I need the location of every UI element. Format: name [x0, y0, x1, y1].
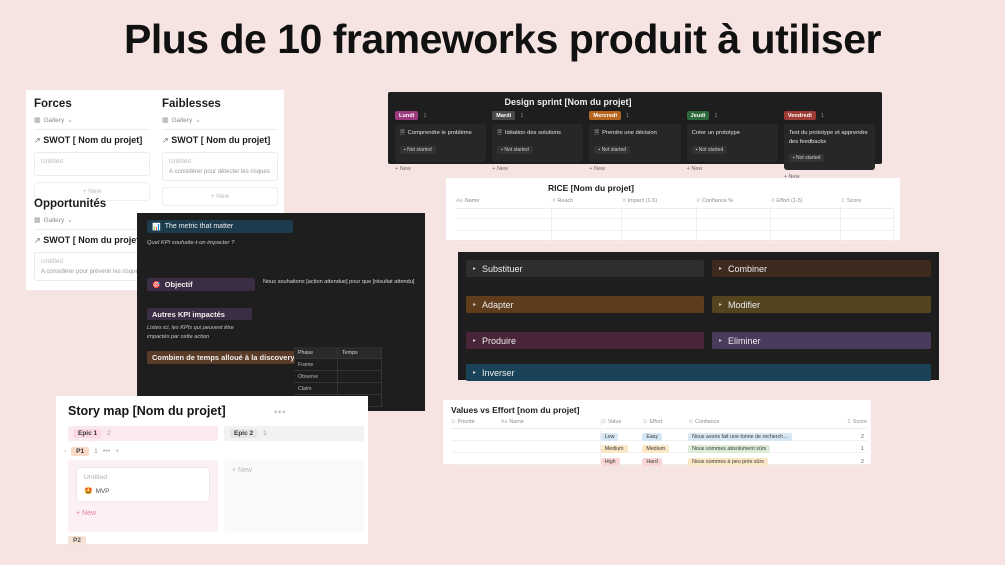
- target-icon: 🎯: [152, 281, 161, 289]
- story-card-tag: 🤩MVP: [84, 487, 202, 495]
- chevron-down-icon: ⌄: [67, 116, 72, 124]
- objective-label: Objectif: [165, 280, 193, 289]
- swot-database-link[interactable]: ↗ SWOT [ Nom du projet]: [34, 135, 150, 145]
- cell-effort[interactable]: Hard: [642, 450, 688, 468]
- sprint-day-tag: Vendredi: [784, 111, 816, 120]
- grid-icon: ▦: [162, 116, 169, 124]
- swot-item-title: Untitled: [41, 158, 143, 165]
- scamper-toggle-produire[interactable]: ▸Produire: [466, 332, 704, 349]
- table-cell[interactable]: [456, 231, 552, 242]
- table-cell[interactable]: [622, 207, 696, 218]
- metric-header-label: The metric that matter: [165, 223, 233, 230]
- divider: [34, 229, 150, 230]
- design-sprint-panel: Design sprint [Nom du projet] Lundi1🗎Com…: [388, 92, 882, 164]
- scamper-toggle-eliminer[interactable]: ▸Eliminer: [712, 332, 931, 349]
- table-cell[interactable]: Claim: [294, 383, 338, 394]
- gallery-label: Gallery: [44, 217, 65, 224]
- chart-icon: 📊: [152, 223, 161, 231]
- status-badge: ▪ Not started: [400, 146, 436, 154]
- sprint-task-label: 🗎Comprendre le problème: [400, 129, 481, 138]
- sprint-task-label: Créer un prototype: [692, 129, 773, 138]
- rice-column-header[interactable]: #Reach: [552, 198, 622, 204]
- sprint-day-count: 1: [821, 113, 824, 119]
- gallery-label: Gallery: [44, 117, 65, 124]
- epic-count: 2: [107, 430, 111, 437]
- rice-column-header[interactable]: #Effort (1-5): [771, 198, 841, 204]
- table-cell[interactable]: Observe: [294, 371, 338, 382]
- star-struck-icon: 🤩: [84, 488, 93, 495]
- page-icon: 🗎: [594, 130, 599, 136]
- column-type-icon: #: [622, 198, 625, 204]
- values-vs-effort-title: Values vs Effort [nom du projet]: [451, 405, 579, 415]
- epic-2-body: + New: [224, 460, 364, 532]
- table-cell[interactable]: [338, 371, 382, 382]
- rice-column-header[interactable]: AaName: [456, 198, 552, 204]
- table-cell[interactable]: [622, 219, 696, 230]
- status-badge: ▪ Not started: [594, 146, 630, 154]
- table-cell[interactable]: [697, 207, 771, 218]
- metric-question: Quel KPI souhaite-t-on impacter ?: [147, 240, 234, 246]
- vve-column-header[interactable]: AaName: [501, 419, 602, 425]
- table-row[interactable]: Frame: [294, 359, 382, 371]
- status-badge: ▪ Not started: [692, 146, 728, 154]
- column-type-icon: ⊙: [451, 419, 456, 425]
- swot-section-forces: Forces ▦ Gallery ⌄ ↗ SWOT [ Nom du proje…: [34, 90, 150, 201]
- rice-column-header[interactable]: #Impact (1-5): [622, 198, 696, 204]
- grid-icon: ▦: [34, 216, 41, 224]
- sprint-day-tag: Lundi: [395, 111, 418, 120]
- sprint-day-count: 1: [520, 113, 523, 119]
- sprint-day-row: Mardi1: [492, 111, 583, 120]
- sprint-column-vendredi: Vendredi1Test du prototype et apprendre …: [784, 111, 875, 180]
- swot-link-label: SWOT [ Nom du projet]: [43, 235, 142, 245]
- swot-card-item[interactable]: Untitled A considérer pour détecter les …: [162, 152, 278, 181]
- status-badge: ▪ Not started: [497, 146, 533, 154]
- table-header-row: PhaseTemps: [294, 347, 382, 359]
- metric-panel: 📊 The metric that matter Quel KPI souhai…: [137, 213, 425, 411]
- sprint-task-label: 🗎Prendre une décision: [594, 129, 675, 138]
- sprint-new-button[interactable]: + New: [395, 166, 486, 172]
- epic-band[interactable]: Epic 1 2: [68, 426, 218, 441]
- table-row[interactable]: [456, 219, 894, 231]
- cell-score[interactable]: 2: [825, 450, 867, 468]
- status-badge: ▪ Not started: [789, 154, 825, 162]
- table-cell[interactable]: [338, 383, 382, 394]
- sprint-column-jeudi: Jeudi1Créer un prototype▪ Not started+ N…: [687, 111, 778, 180]
- sprint-day-tag: Mercredi: [589, 111, 621, 120]
- chevron-right-icon: ▸: [719, 265, 722, 272]
- swot-heading: Faiblesses: [162, 98, 278, 110]
- collapse-icon[interactable]: ▪: [64, 449, 66, 455]
- priority-count: 1: [94, 448, 98, 455]
- table-cell[interactable]: [338, 359, 382, 370]
- column-type-icon: Aa: [501, 419, 508, 425]
- epic-count: 1: [263, 430, 267, 437]
- scamper-label: Combiner: [728, 264, 767, 274]
- table-cell[interactable]: [841, 219, 894, 230]
- rice-title: RICE [Nom du projet]: [446, 183, 736, 193]
- table-cell[interactable]: [697, 231, 771, 242]
- values-vs-effort-panel: Values vs Effort [nom du projet] ⊙Priori…: [443, 400, 871, 464]
- table-cell[interactable]: [771, 231, 841, 242]
- epic-tag: Epic 2: [230, 429, 257, 438]
- slide-canvas: Plus de 10 frameworks produit à utiliser…: [0, 0, 1005, 565]
- table-cell[interactable]: [841, 231, 894, 242]
- sprint-day-row: Vendredi1: [784, 111, 875, 120]
- scamper-panel: ▸Substituer▸Combiner▸Adapter▸Modifier▸Pr…: [458, 252, 939, 380]
- priority-row: ▪ P1 1 ••• +: [64, 447, 119, 456]
- chevron-down-icon: ⌄: [67, 216, 72, 224]
- chevron-right-icon: ▸: [473, 337, 476, 344]
- sprint-day-count: 1: [626, 113, 629, 119]
- sprint-task-card[interactable]: Créer un prototype▪ Not started: [687, 124, 778, 162]
- sprint-day-tag: Mardi: [492, 111, 515, 120]
- rice-panel: RICE [Nom du projet] AaName#Reach#Impact…: [446, 178, 900, 240]
- epic-tag: Epic 1: [74, 429, 101, 438]
- add-icon[interactable]: +: [115, 448, 119, 455]
- scamper-toggle-substituer[interactable]: ▸Substituer: [466, 260, 704, 277]
- sprint-column-lundi: Lundi1🗎Comprendre le problème▪ Not start…: [395, 111, 486, 180]
- swot-database-link[interactable]: ↗ SWOT [ Nom du projet]: [162, 135, 278, 145]
- swot-card-item[interactable]: Untitled: [34, 152, 150, 176]
- priority-row-partial[interactable]: P2: [68, 536, 92, 545]
- arrow-up-right-icon: ↗: [34, 136, 41, 145]
- column-type-icon: #: [771, 198, 774, 204]
- gallery-view-selector[interactable]: ▦ Gallery ⌄: [162, 116, 278, 124]
- sprint-day-row: Lundi1: [395, 111, 486, 120]
- cell-name[interactable]: [501, 428, 601, 440]
- scamper-label: Inverser: [482, 368, 515, 378]
- story-map-panel: Story map [Nom du projet] ••• Epic 1 2 E…: [56, 396, 368, 544]
- epic-1-body: Untitled 🤩MVP + New: [68, 460, 218, 532]
- swot-section-faiblesses: Faiblesses ▦ Gallery ⌄ ↗ SWOT [ Nom du p…: [162, 90, 278, 206]
- scamper-toggle-inverser[interactable]: ▸Inverser: [466, 364, 931, 381]
- sprint-task-card[interactable]: 🗎Comprendre le problème▪ Not started: [395, 124, 486, 162]
- column-type-icon: #: [697, 198, 700, 204]
- priority-tag: P2: [68, 536, 86, 545]
- table-row[interactable]: [456, 231, 894, 243]
- table-cell[interactable]: [697, 219, 771, 230]
- table-cell[interactable]: [771, 219, 841, 230]
- other-kpi-hint: Listes ici, les KPIs qui peuvent être im…: [147, 324, 257, 342]
- other-kpi-block[interactable]: Autres KPI impactés: [147, 308, 252, 320]
- sprint-task-label: Test du prototype et apprendre des feedb…: [789, 129, 870, 146]
- swot-link-label: SWOT [ Nom du projet]: [43, 135, 142, 145]
- metric-header-toggle[interactable]: 📊 The metric that matter: [147, 220, 293, 233]
- page-icon: 🗎: [497, 130, 502, 136]
- cell-confiance[interactable]: Nous sommes à peu près sûrs: [688, 450, 825, 468]
- table-cell[interactable]: [841, 207, 894, 218]
- story-card-tag-label: MVP: [96, 488, 110, 495]
- table-cell[interactable]: [456, 219, 552, 230]
- story-map-title: Story map [Nom du projet]: [68, 404, 226, 418]
- gallery-view-selector[interactable]: ▦ Gallery ⌄: [34, 116, 150, 124]
- scamper-label: Adapter: [482, 300, 514, 310]
- swot-item-subtitle: A considérer pour prévenir les risques: [41, 269, 145, 275]
- table-cell[interactable]: [771, 207, 841, 218]
- chevron-down-icon: ⌄: [195, 116, 200, 124]
- objective-block[interactable]: 🎯 Objectif: [147, 278, 255, 291]
- story-card[interactable]: Untitled 🤩MVP: [76, 467, 210, 502]
- table-cell[interactable]: Frame: [294, 359, 338, 370]
- chevron-right-icon: ▸: [473, 301, 476, 308]
- sprint-column-mercredi: Mercredi1🗎Prendre une décision▪ Not star…: [589, 111, 680, 180]
- scamper-label: Substituer: [482, 264, 523, 274]
- swot-link-label: SWOT [ Nom du projet]: [171, 135, 270, 145]
- swot-card-item[interactable]: Untitled A considérer pour prévenir les …: [34, 252, 152, 281]
- swot-heading: Forces: [34, 98, 150, 110]
- chevron-right-icon: ▸: [719, 301, 722, 308]
- column-type-icon: #: [552, 198, 555, 204]
- sprint-task-card[interactable]: 🗎Prendre une décision▪ Not started: [589, 124, 680, 162]
- more-options-icon[interactable]: •••: [274, 407, 286, 417]
- rice-column-header[interactable]: ΣScore: [841, 198, 894, 204]
- epic-1-column-header: Epic 1 2: [68, 426, 218, 441]
- scamper-label: Eliminer: [728, 336, 761, 346]
- priority-tag: P1: [71, 447, 89, 456]
- gallery-label: Gallery: [172, 117, 193, 124]
- rice-table-body: [456, 207, 894, 243]
- table-cell[interactable]: [552, 231, 622, 242]
- sprint-day-count: 1: [423, 113, 426, 119]
- swot-item-title: Untitled: [169, 158, 271, 165]
- chevron-right-icon: ▸: [473, 265, 476, 272]
- sprint-task-label: 🗎Idéation des solutions: [497, 129, 578, 138]
- epic-band[interactable]: Epic 2 1: [224, 426, 364, 441]
- discovery-time-block[interactable]: Combien de temps alloué à la discovery: [147, 351, 295, 364]
- sprint-task-card[interactable]: 🗎Idéation des solutions▪ Not started: [492, 124, 583, 162]
- sprint-new-button[interactable]: + New: [687, 166, 778, 172]
- scamper-label: Modifier: [728, 300, 760, 310]
- story-card-title: Untitled: [84, 474, 202, 481]
- cell-name[interactable]: [501, 441, 601, 453]
- discovery-label: Combien de temps alloué à la discovery: [152, 353, 295, 362]
- chevron-right-icon: ▸: [719, 337, 722, 344]
- sprint-day-count: 1: [714, 113, 717, 119]
- sprint-day-row: Jeudi1: [687, 111, 778, 120]
- scamper-toggle-modifier[interactable]: ▸Modifier: [712, 296, 931, 313]
- scamper-toggle-adapter[interactable]: ▸Adapter: [466, 296, 704, 313]
- other-kpi-label: Autres KPI impactés: [152, 310, 225, 319]
- cell-name[interactable]: [501, 453, 601, 465]
- table-cell[interactable]: [622, 231, 696, 242]
- sprint-new-button[interactable]: + New: [492, 166, 583, 172]
- story-new-button[interactable]: + New: [232, 467, 356, 474]
- rice-column-header[interactable]: #Confiance %: [697, 198, 771, 204]
- table-row[interactable]: [456, 207, 894, 219]
- epic-2-column-header: Epic 2 1: [224, 426, 364, 441]
- table-row[interactable]: Observe: [294, 371, 382, 383]
- column-type-icon: Σ: [841, 198, 844, 204]
- divider: [162, 129, 278, 130]
- objective-sentence: Nous souhaitons [action attendue] pour q…: [263, 279, 414, 285]
- more-options-icon[interactable]: •••: [103, 448, 110, 455]
- table-cell[interactable]: [552, 219, 622, 230]
- sprint-task-card[interactable]: Test du prototype et apprendre des feedb…: [784, 124, 875, 170]
- divider: [34, 129, 150, 130]
- page-title: Plus de 10 frameworks produit à utiliser: [0, 16, 1005, 63]
- page-icon: 🗎: [400, 130, 405, 136]
- sprint-new-button[interactable]: + New: [589, 166, 680, 172]
- swot-item-subtitle: A considérer pour détecter les risques: [169, 169, 271, 175]
- table-cell[interactable]: [456, 207, 552, 218]
- sprint-column-mardi: Mardi1🗎Idéation des solutions▪ Not start…: [492, 111, 583, 180]
- sprint-day-row: Mercredi1: [589, 111, 680, 120]
- design-sprint-columns: Lundi1🗎Comprendre le problème▪ Not start…: [395, 111, 875, 180]
- table-cell[interactable]: [552, 207, 622, 218]
- scamper-label: Produire: [482, 336, 516, 346]
- sprint-day-tag: Jeudi: [687, 111, 710, 120]
- column-header[interactable]: Temps: [338, 347, 382, 358]
- swot-item-title: Untitled: [41, 258, 145, 265]
- grid-icon: ▦: [34, 116, 41, 124]
- story-new-button[interactable]: + New: [76, 510, 210, 517]
- vve-table-body: LowEasyNous avons fait une tonne de rech…: [451, 428, 867, 466]
- column-header[interactable]: Phase: [294, 347, 338, 358]
- cell-value[interactable]: High: [601, 450, 643, 468]
- vve-column-header[interactable]: ⊙Priorité: [451, 419, 501, 425]
- table-row[interactable]: HighHardNous sommes à peu près sûrs2: [451, 453, 867, 466]
- design-sprint-title: Design sprint [Nom du projet]: [388, 97, 748, 107]
- chevron-right-icon: ▸: [473, 369, 476, 376]
- arrow-up-right-icon: ↗: [34, 236, 41, 245]
- scamper-toggle-combiner[interactable]: ▸Combiner: [712, 260, 931, 277]
- table-row[interactable]: Claim: [294, 383, 382, 395]
- arrow-up-right-icon: ↗: [162, 136, 169, 145]
- swot-heading: Opportunités: [34, 198, 214, 210]
- column-type-icon: Aa: [456, 198, 463, 204]
